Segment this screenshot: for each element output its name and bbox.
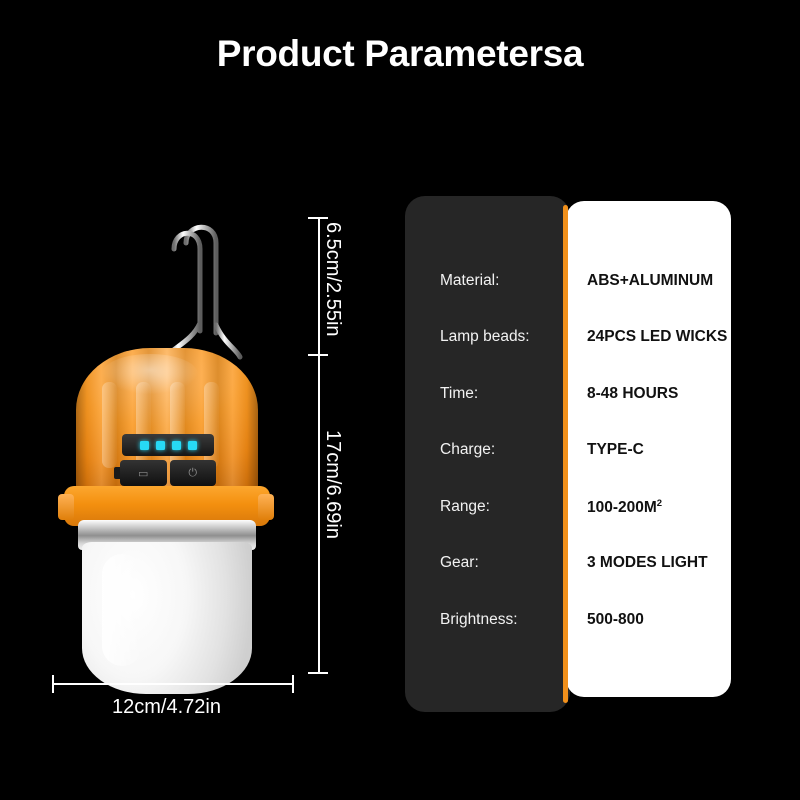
spec-label-charge: Charge: bbox=[440, 441, 495, 459]
spec-value-range: 100-200M2 bbox=[587, 498, 662, 517]
spec-label-gear: Gear: bbox=[440, 554, 479, 572]
spec-value-lamp-beads: 24PCS LED WICKS bbox=[587, 328, 727, 346]
power-button[interactable]: ⏻ bbox=[170, 460, 217, 486]
spec-value-material: ABS+ALUMINUM bbox=[587, 272, 713, 290]
spec-label-lamp-beads: Lamp beads: bbox=[440, 328, 530, 346]
spec-value-charge: TYPE-C bbox=[587, 441, 644, 459]
dimension-label-body-height: 17cm/6.69in bbox=[321, 430, 344, 539]
led-indicator bbox=[188, 441, 197, 450]
device-button-row: ▭ ⏻ bbox=[120, 460, 216, 486]
page-title: Product Parametersa bbox=[0, 33, 800, 75]
dimension-tick-top bbox=[308, 217, 328, 219]
spec-label-time: Time: bbox=[440, 385, 478, 403]
dimension-label-body-width: 12cm/4.72in bbox=[112, 696, 221, 719]
led-indicator bbox=[172, 441, 181, 450]
led-indicator bbox=[140, 441, 149, 450]
spec-label-material: Material: bbox=[440, 272, 499, 290]
collar-tab bbox=[258, 494, 274, 520]
spec-label-range: Range: bbox=[440, 498, 490, 516]
spec-label-brightness: Brightness: bbox=[440, 611, 518, 629]
diffuser-highlight bbox=[102, 554, 142, 666]
dimension-tick-bottom bbox=[308, 672, 328, 674]
usb-port-button[interactable]: ▭ bbox=[120, 460, 167, 486]
dimension-label-hook-height: 6.5cm/2.55in bbox=[321, 222, 344, 337]
spec-value-range-superscript: 2 bbox=[657, 498, 662, 509]
lamp-body: ▭ ⏻ bbox=[58, 348, 276, 668]
horizontal-dimension-line bbox=[52, 683, 294, 685]
spec-value-range-text: 100-200M bbox=[587, 499, 657, 516]
vertical-dimension-line bbox=[318, 218, 320, 673]
product-parameters-page: Product Parametersa bbox=[0, 0, 800, 800]
collar-tab bbox=[58, 494, 74, 520]
spec-accent-divider bbox=[563, 205, 568, 703]
product-image: ▭ ⏻ bbox=[20, 180, 310, 710]
spec-value-brightness: 500-800 bbox=[587, 611, 644, 629]
dome-rib bbox=[102, 382, 117, 468]
hanging-hook-icon bbox=[140, 205, 250, 365]
spec-value-gear: 3 MODES LIGHT bbox=[587, 554, 708, 572]
dimension-tick-right bbox=[292, 675, 294, 693]
dimension-tick-left bbox=[52, 675, 54, 693]
led-indicator bbox=[156, 441, 165, 450]
battery-indicator-panel bbox=[122, 434, 214, 456]
dimension-tick-middle bbox=[308, 354, 328, 356]
spec-value-time: 8-48 HOURS bbox=[587, 385, 678, 403]
